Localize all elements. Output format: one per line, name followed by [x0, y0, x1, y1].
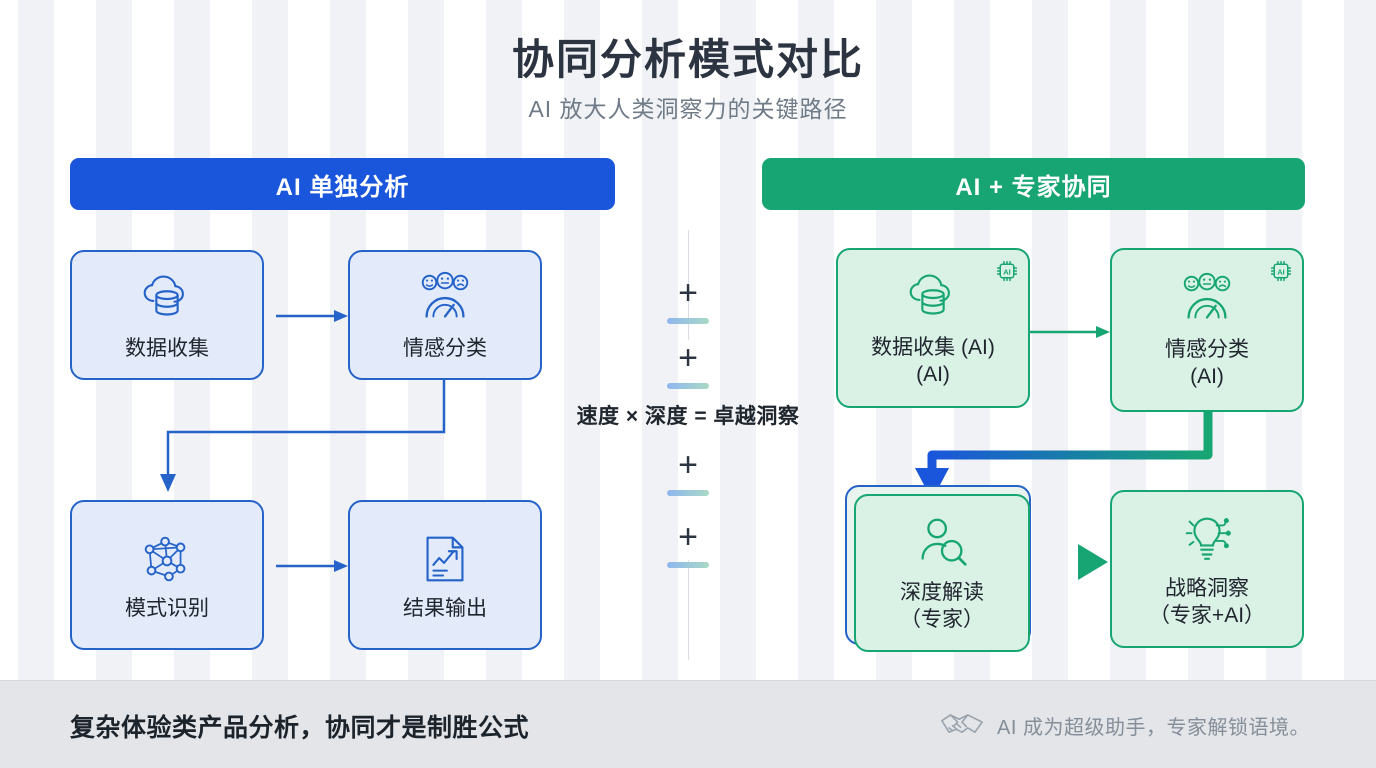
footer-note: AI 成为超级助手，专家解锁语境。 — [939, 710, 1310, 740]
center-divider-bottom — [688, 560, 689, 660]
column-header-ai-expert: AI + 专家协同 — [762, 158, 1305, 210]
card-label: 情感分类 — [403, 336, 487, 363]
cloud-database-icon — [902, 267, 964, 329]
report-chart-icon — [414, 528, 476, 590]
sentiment-faces-gauge-icon — [1176, 269, 1238, 331]
page-title: 协同分析模式对比 — [0, 26, 1376, 87]
ai-chip-badge-icon: AI — [1269, 259, 1293, 283]
neural-network-icon — [136, 528, 198, 590]
card-left-data-collection[interactable]: 数据收集 — [70, 250, 264, 380]
plus-symbol-4: + — [666, 522, 710, 552]
card-label: 结果输出 — [403, 596, 487, 623]
plus-accent-bar-2 — [667, 383, 709, 389]
svg-text:AI: AI — [1277, 267, 1285, 276]
card-left-pattern-recognition[interactable]: 模式识别 — [70, 500, 264, 650]
card-label: 情感分类 (AI) — [1165, 337, 1249, 391]
svg-text:AI: AI — [1003, 267, 1011, 276]
plus-accent-bar-1 — [667, 318, 709, 324]
footer-note-text: AI 成为超级助手，专家解锁语境。 — [997, 711, 1310, 740]
card-right-strategic-insight[interactable]: 战略洞察 （专家+AI） — [1110, 490, 1304, 648]
handshake-icon — [939, 710, 985, 740]
footer-headline: 复杂体验类产品分析，协同才是制胜公式 — [70, 708, 529, 744]
expert-search-icon — [911, 512, 973, 574]
plus-accent-bar-3 — [667, 490, 709, 496]
card-left-sentiment[interactable]: 情感分类 — [348, 250, 542, 380]
card-label: 战略洞察 （专家+AI） — [1149, 576, 1265, 630]
page-subtitle: AI 放大人类洞察力的关键路径 — [0, 90, 1376, 124]
ai-chip-badge-icon: AI — [995, 259, 1019, 283]
card-label: 深度解读 （专家） — [900, 580, 984, 634]
plus-symbol-1: + — [666, 278, 710, 308]
plus-symbol-3: + — [666, 450, 710, 480]
card-label: 模式识别 — [125, 596, 209, 623]
lightbulb-circuit-icon — [1176, 508, 1238, 570]
column-header-ai-only: AI 单独分析 — [70, 158, 615, 210]
card-right-data-collection-ai[interactable]: AI 数据收集 (AI) (AI) — [836, 248, 1030, 408]
card-right-deep-interpretation[interactable]: 深度解读 （专家） — [854, 494, 1030, 652]
plus-symbol-2: + — [666, 343, 710, 373]
plus-accent-bar-4 — [667, 562, 709, 568]
card-label: 数据收集 — [125, 336, 209, 363]
cloud-database-icon — [136, 268, 198, 330]
slide-canvas: 协同分析模式对比 AI 放大人类洞察力的关键路径 AI 单独分析 AI + 专家… — [0, 0, 1376, 768]
sentiment-faces-gauge-icon — [414, 268, 476, 330]
card-label: 数据收集 (AI) (AI) — [871, 335, 995, 389]
card-right-sentiment-ai[interactable]: AI 情感分类 (AI) — [1110, 248, 1304, 412]
card-left-result-output[interactable]: 结果输出 — [348, 500, 542, 650]
center-formula: 速度 × 深度 = 卓越洞察 — [538, 400, 838, 430]
